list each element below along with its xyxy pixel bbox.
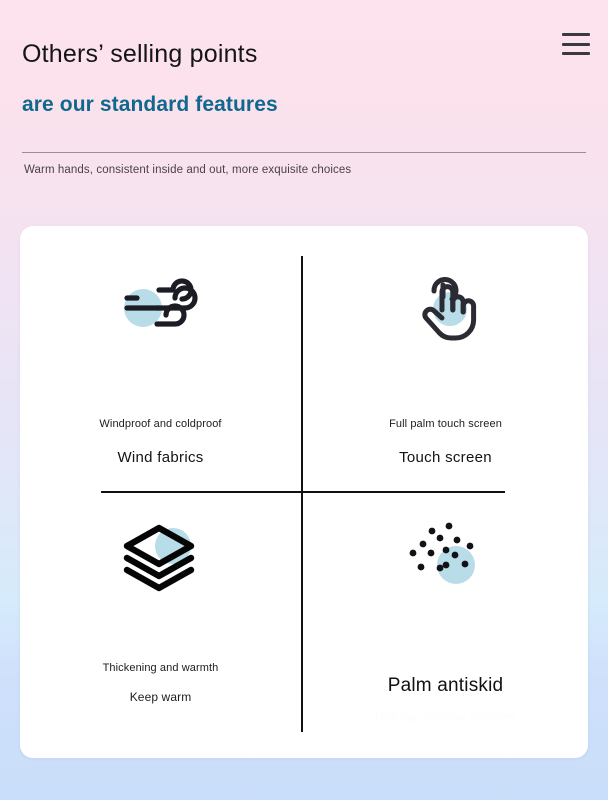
menu-bar-middle	[562, 43, 590, 46]
feature-cell-palm-antiskid[interactable]: Palm antiskid Non-slip silicone particle…	[303, 510, 588, 724]
feature-title: Wind fabrics	[117, 449, 203, 466]
dots-antiskid-icon	[401, 510, 491, 602]
layers-icon	[115, 510, 207, 602]
feature-caption: Windproof and coldproof	[99, 418, 221, 430]
feature-cell-keep-warm[interactable]: Thickening and warmth Keep warm	[20, 510, 301, 704]
touch-hand-icon	[404, 260, 488, 352]
feature-caption: Thickening and warmth	[103, 662, 219, 674]
page-subtitle: are our standard features	[22, 93, 278, 117]
menu-bar-bottom	[562, 52, 590, 55]
feature-cell-touch-screen[interactable]: Full palm touch screen Touch screen	[303, 260, 588, 466]
page-title: Others’ selling points	[22, 40, 258, 69]
header-caption: Warm hands, consistent inside and out, m…	[24, 164, 351, 176]
page-root: Others’ selling points are our standard …	[0, 0, 608, 800]
feature-title: Touch screen	[399, 449, 492, 466]
feature-subtext: Non-slip silicone particles	[375, 710, 516, 724]
feature-title: Palm antiskid	[388, 675, 504, 697]
features-card: Windproof and coldproof Wind fabrics Ful…	[20, 226, 588, 758]
hamburger-menu-icon[interactable]	[562, 33, 590, 55]
feature-title: Keep warm	[130, 690, 192, 704]
grid-divider-horizontal	[101, 491, 505, 493]
wind-icon	[113, 260, 209, 352]
page-header: Others’ selling points are our standard …	[0, 0, 608, 210]
feature-caption: Full palm touch screen	[389, 418, 502, 430]
header-divider	[22, 152, 586, 153]
menu-bar-top	[562, 33, 590, 36]
feature-cell-wind[interactable]: Windproof and coldproof Wind fabrics	[20, 260, 301, 466]
